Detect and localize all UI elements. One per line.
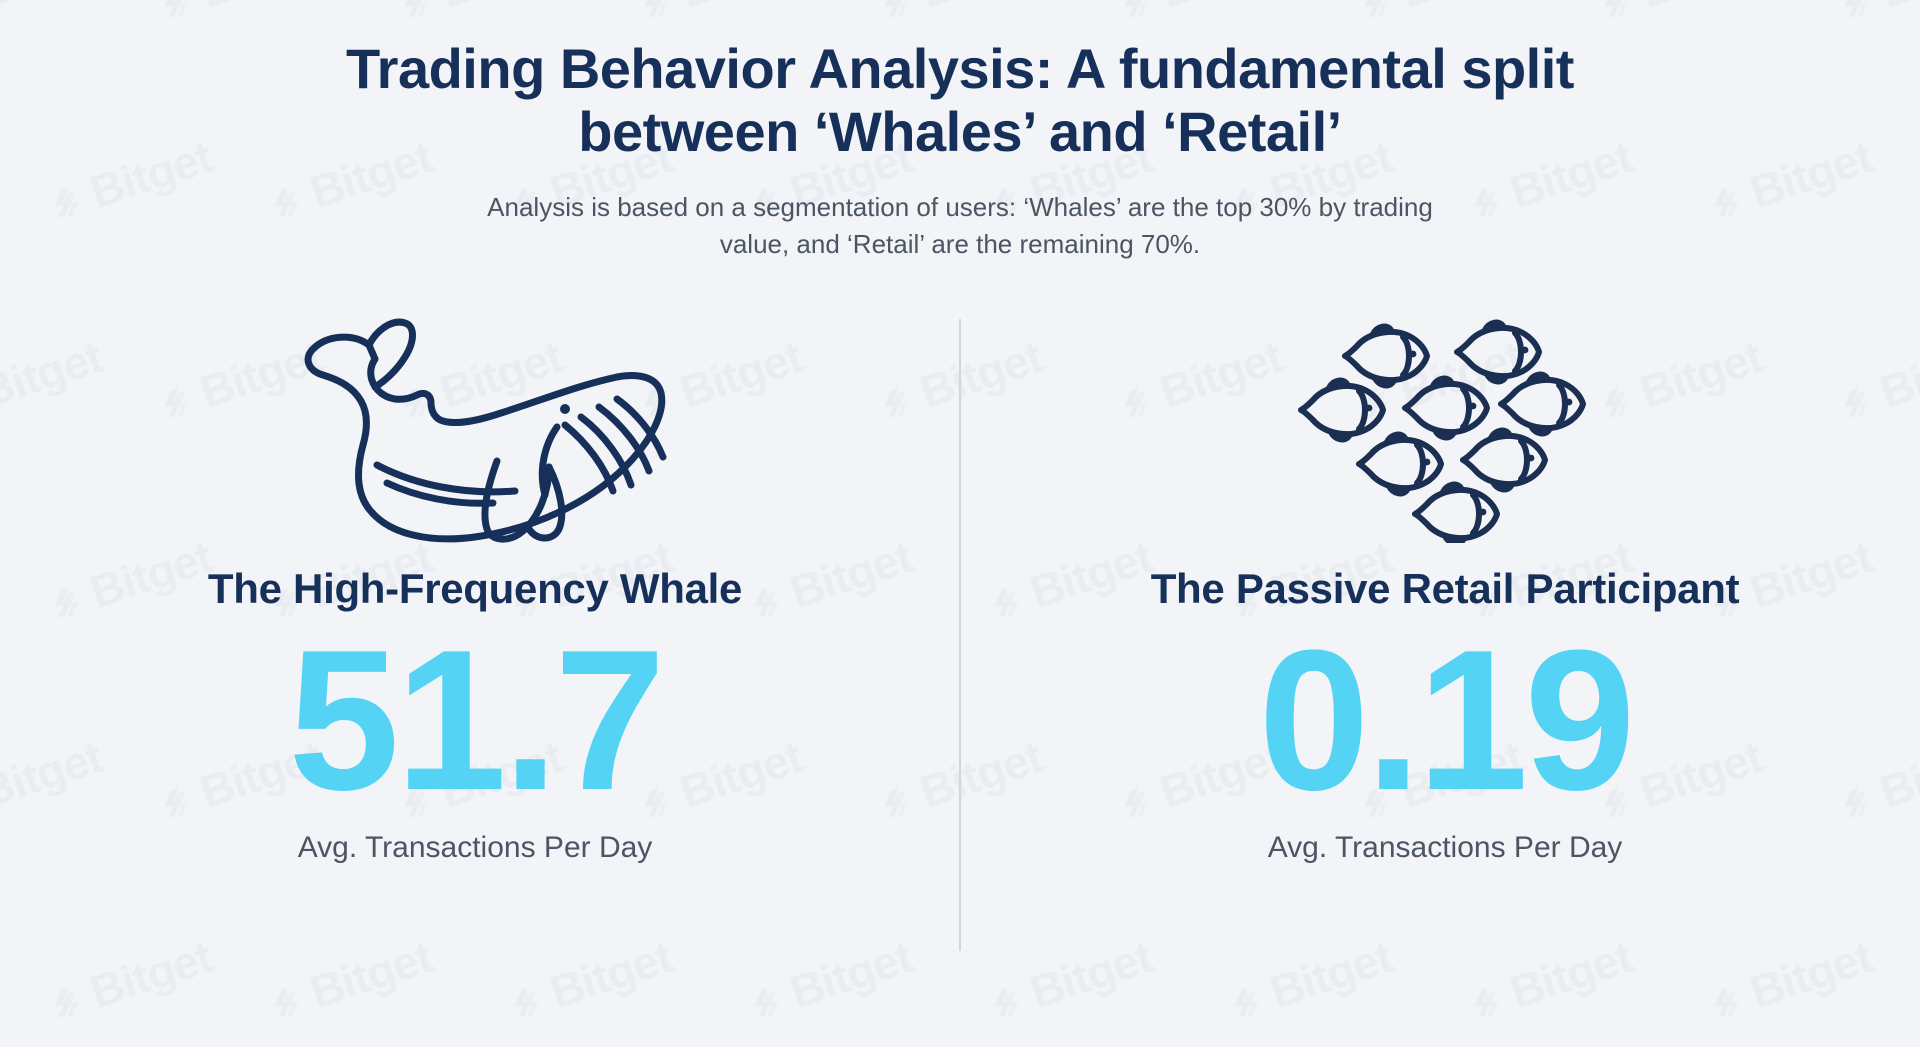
comparison-panels: The High-Frequency Whale 51.7 Avg. Trans… bbox=[0, 305, 1920, 965]
infographic-content: Trading Behavior Analysis: A fundamental… bbox=[0, 0, 1920, 965]
panel-caption-whale: Avg. Transactions Per Day bbox=[298, 831, 653, 865]
panel-title-whale: The High-Frequency Whale bbox=[208, 565, 742, 613]
bitget-chevron-logo bbox=[745, 980, 788, 1023]
bitget-chevron-logo bbox=[265, 980, 308, 1023]
header: Trading Behavior Analysis: A fundamental… bbox=[0, 0, 1920, 263]
bitget-chevron-logo bbox=[1465, 980, 1508, 1023]
bitget-chevron-logo bbox=[1225, 980, 1268, 1023]
bitget-chevron-logo bbox=[505, 980, 548, 1023]
panel-stat-whale: 51.7 bbox=[288, 623, 661, 819]
bitget-chevron-logo bbox=[1705, 980, 1748, 1023]
panel-divider bbox=[959, 319, 961, 951]
panel-caption-retail: Avg. Transactions Per Day bbox=[1268, 831, 1623, 865]
panel-title-retail: The Passive Retail Participant bbox=[1151, 565, 1740, 613]
page-subtitle: Analysis is based on a segmentation of u… bbox=[280, 189, 1640, 263]
bitget-chevron-logo bbox=[45, 980, 88, 1023]
panel-whale: The High-Frequency Whale 51.7 Avg. Trans… bbox=[0, 305, 960, 965]
panel-retail: The Passive Retail Participant 0.19 Avg.… bbox=[960, 305, 1920, 965]
whale-icon bbox=[265, 305, 685, 555]
panel-stat-retail: 0.19 bbox=[1258, 623, 1631, 819]
page-title: Trading Behavior Analysis: A fundamental… bbox=[250, 38, 1670, 163]
bitget-chevron-logo bbox=[985, 980, 1028, 1023]
fish-school-icon bbox=[1295, 305, 1595, 555]
